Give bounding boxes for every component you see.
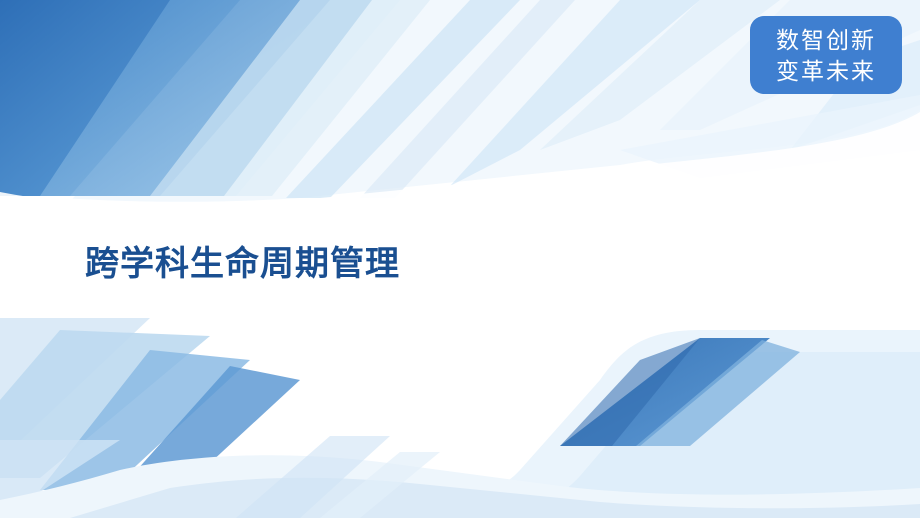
- badge-line-2: 变革未来: [776, 56, 876, 87]
- slide-title: 跨学科生命周期管理: [85, 236, 400, 285]
- slide-canvas: 数智创新 变革未来 跨学科生命周期管理: [0, 0, 920, 518]
- badge-line-1: 数智创新: [776, 25, 876, 56]
- badge-slogan: 数智创新 变革未来: [750, 16, 902, 94]
